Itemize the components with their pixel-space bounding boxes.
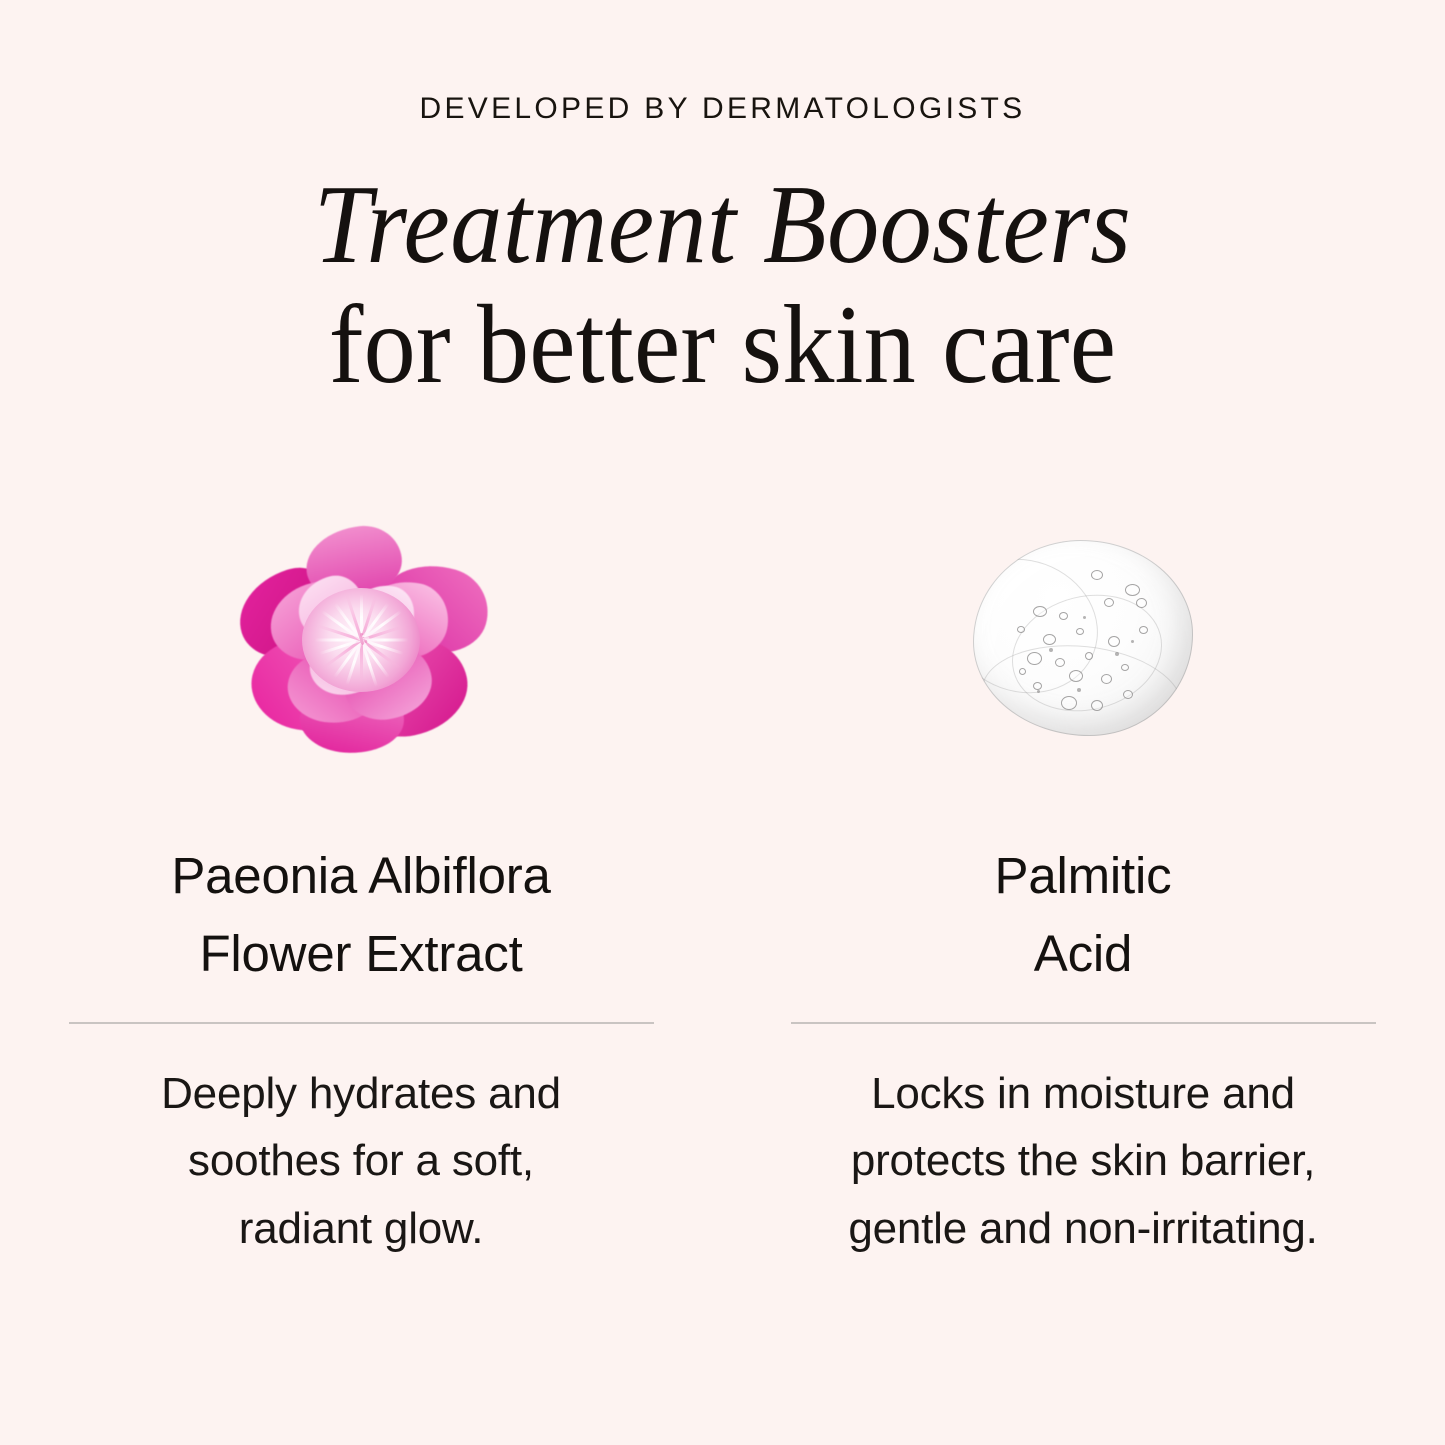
ingredient-art-slot [211,505,511,775]
ingredient-title-line-2: Flower Extract [171,915,550,993]
flower-center [302,588,420,692]
divider [69,1022,654,1024]
ingredient-description: Locks in moisture and protects the skin … [783,1060,1383,1262]
ingredient-title-line-1: Palmitic [995,837,1172,915]
divider [791,1022,1376,1024]
product-benefits-poster: DEVELOPED BY DERMATOLOGISTS Treatment Bo… [0,0,1445,1445]
gel-body [973,540,1193,736]
ingredient-desc-line-1: Deeply hydrates and [61,1060,661,1127]
ingredient-title: Paeonia Albiflora Flower Extract [171,837,550,992]
peony-flower-icon [236,525,486,755]
headline-line-1: Treatment Boosters [51,168,1395,283]
ingredient-description: Deeply hydrates and soothes for a soft, … [61,1060,661,1262]
page-title: Treatment Boosters for better skin care [0,168,1445,405]
ingredient-card-paeonia-albiflora: Paeonia Albiflora Flower Extract Deeply … [0,505,722,1262]
ingredient-desc-line-1: Locks in moisture and [783,1060,1383,1127]
ingredient-card-palmitic-acid: Palmitic Acid Locks in moisture and prot… [722,505,1444,1262]
eyebrow-text: DEVELOPED BY DERMATOLOGISTS [0,92,1445,126]
ingredient-title-line-1: Paeonia Albiflora [171,837,550,915]
ingredient-columns: Paeonia Albiflora Flower Extract Deeply … [0,505,1445,1262]
ingredient-title: Palmitic Acid [995,837,1172,992]
ingredient-desc-line-3: gentle and non-irritating. [783,1195,1383,1262]
ingredient-desc-line-3: radiant glow. [61,1195,661,1262]
ingredient-desc-line-2: soothes for a soft, [61,1127,661,1194]
ingredient-desc-line-2: protects the skin barrier, [783,1127,1383,1194]
ingredient-title-line-2: Acid [995,915,1172,993]
headline-line-2: for better skin care [51,287,1395,405]
clear-gel-droplet-icon [973,540,1193,740]
ingredient-art-slot [933,505,1233,775]
